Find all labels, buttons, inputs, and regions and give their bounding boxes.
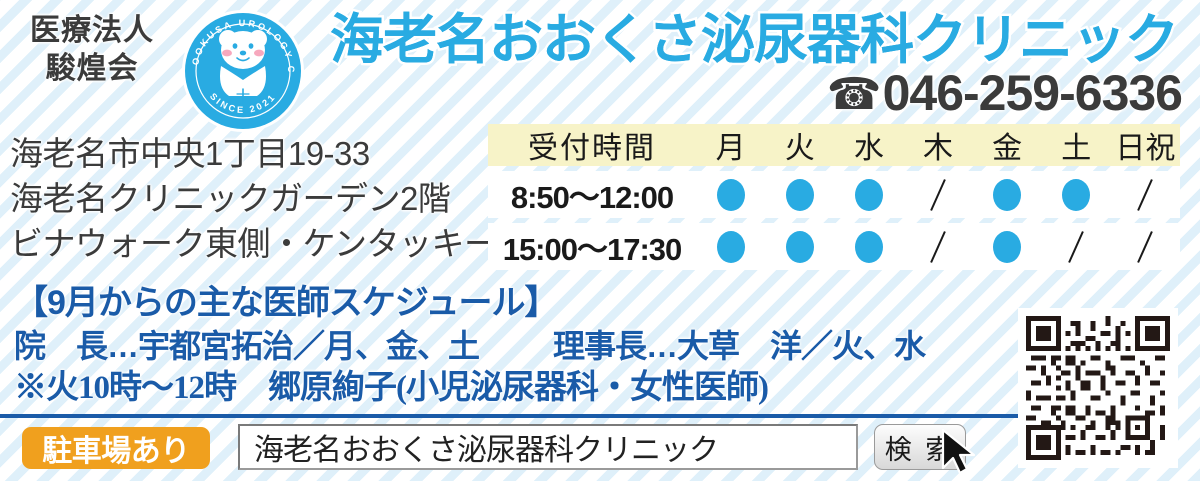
mark-afternoon-tue	[765, 231, 834, 263]
clinic-logo: EBINA OOKUSA UROLOGY CLINIC SINCE 2021	[180, 8, 306, 134]
closed-slash-icon	[925, 178, 951, 212]
open-dot-icon	[717, 179, 745, 211]
open-dot-icon	[786, 179, 814, 211]
address-block: 海老名市中央1丁目19-33 海老名クリニックガーデン2階 ビナウォーク東側・ケ…	[10, 132, 480, 267]
mark-morning-sunhol	[1111, 178, 1180, 212]
telephone-icon: ☎	[827, 70, 881, 119]
qr-code[interactable]	[1018, 308, 1178, 468]
search-input[interactable]: 海老名おおくさ泌尿器科クリニック	[238, 424, 858, 470]
day-header-wed: 水	[834, 123, 903, 167]
schedule-doctors-row: 院 長…宇都宮拓治／月、金、土理事長…大草 洋／火、水	[14, 330, 1014, 362]
schedule-title: 【9月からの主な医師スケジュール】	[14, 286, 558, 320]
open-dot-icon	[717, 231, 745, 263]
reception-hours-table: 受付時間 月 火 水 木 金 土 日祝 8:50〜12:00 15:00〜17:…	[488, 124, 1180, 270]
hours-header-row: 受付時間 月 火 水 木 金 土 日祝	[488, 124, 1180, 166]
phone-number-text: 046-259-6336	[883, 65, 1182, 121]
hours-row-morning: 8:50〜12:00	[488, 171, 1180, 218]
hours-afternoon-time: 15:00〜17:30	[488, 224, 696, 269]
search-input-value: 海老名おおくさ泌尿器科クリニック	[254, 425, 718, 469]
open-dot-icon	[1062, 179, 1090, 211]
open-dot-icon	[786, 231, 814, 263]
mark-afternoon-sunhol	[1111, 230, 1180, 264]
open-dot-icon	[855, 179, 883, 211]
mark-afternoon-sat	[1042, 230, 1111, 264]
closed-slash-icon	[1132, 230, 1158, 264]
mark-morning-sat	[1042, 179, 1111, 211]
advertisement-banner: 医療法人 駿煌会	[0, 0, 1200, 481]
address-line-1: 海老名市中央1丁目19-33	[10, 132, 480, 177]
mouse-cursor-icon	[940, 428, 982, 476]
phone-number: ☎046-259-6336	[827, 68, 1182, 118]
mark-afternoon-mon	[696, 231, 765, 263]
corporation-line-2: 駿煌会	[12, 50, 172, 88]
corporation-line-1: 医療法人	[12, 12, 172, 50]
day-header-sunhol: 日祝	[1111, 123, 1180, 167]
corporation-name: 医療法人 駿煌会	[12, 12, 172, 89]
open-dot-icon	[855, 231, 883, 263]
mark-afternoon-wed	[834, 231, 903, 263]
schedule-note: ※火10時〜12時 郷原絢子(小児泌尿器科・女性医師)	[14, 372, 768, 405]
hours-row-afternoon: 15:00〜17:30	[488, 223, 1180, 270]
mark-morning-wed	[834, 179, 903, 211]
clinic-name: 海老名おおくさ泌尿器科クリニック	[330, 13, 1178, 67]
day-header-tue: 火	[765, 123, 834, 167]
open-dot-icon	[993, 231, 1021, 263]
parking-badge: 駐車場あり	[22, 427, 210, 469]
hours-header-label: 受付時間	[488, 123, 696, 167]
mark-afternoon-thu	[903, 230, 972, 264]
address-line-2: 海老名クリニックガーデン2階	[10, 177, 480, 222]
closed-slash-icon	[1132, 178, 1158, 212]
day-header-thu: 木	[903, 123, 972, 167]
closed-slash-icon	[1063, 230, 1089, 264]
parking-badge-label: 駐車場あり	[42, 426, 190, 470]
closed-slash-icon	[925, 230, 951, 264]
mark-morning-tue	[765, 179, 834, 211]
mark-morning-thu	[903, 178, 972, 212]
mark-morning-mon	[696, 179, 765, 211]
mark-afternoon-fri	[973, 231, 1042, 263]
day-header-fri: 金	[973, 123, 1042, 167]
schedule-director: 院 長…宇都宮拓治／月、金、土	[14, 328, 479, 364]
mark-morning-fri	[973, 179, 1042, 211]
section-divider	[0, 414, 1136, 418]
address-line-3: ビナウォーク東側・ケンタッキー隣接	[10, 222, 480, 267]
day-header-sat: 土	[1042, 123, 1111, 167]
open-dot-icon	[993, 179, 1021, 211]
schedule-chairman: 理事長…大草 洋／火、水	[553, 328, 925, 364]
day-header-mon: 月	[696, 123, 765, 167]
hours-morning-time: 8:50〜12:00	[488, 172, 696, 217]
